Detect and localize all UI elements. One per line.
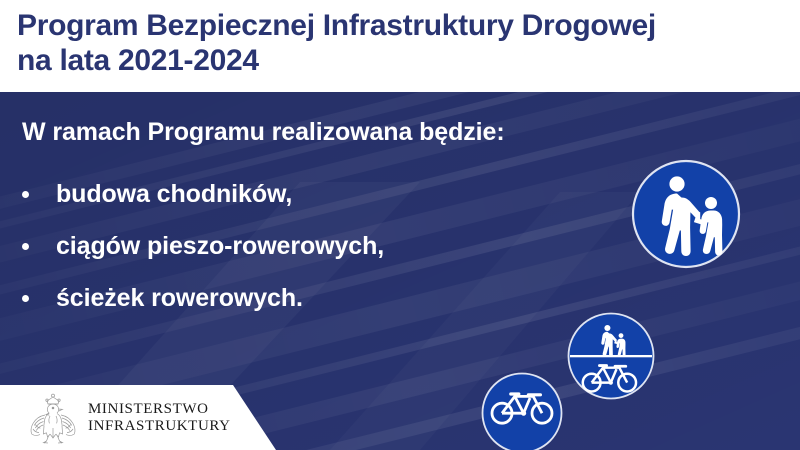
list-item-label: ciągów pieszo-rowerowych, [56,231,384,261]
infographic-slide: Program Bezpiecznej Infrastruktury Drogo… [0,0,800,450]
pedestrian-path-sign-icon [631,159,741,269]
list-item: ciągów pieszo-rowerowych, [18,231,488,283]
bullet-list: budowa chodników, ciągów pieszo-rowerowy… [18,179,488,335]
bullet-dot-icon [22,243,29,250]
page-title: Program Bezpiecznej Infrastruktury Drogo… [17,8,787,78]
bicycle-path-sign-icon [481,372,563,450]
list-item-label: ścieżek rowerowych. [56,283,303,313]
bullet-dot-icon [22,191,29,198]
ministry-name-label: MINISTERSTWO INFRASTRUKTURY [88,401,231,435]
list-item: ścieżek rowerowych. [18,283,488,335]
list-item: budowa chodników, [18,179,488,231]
header-band: Program Bezpiecznej Infrastruktury Drogo… [0,0,800,92]
list-item-label: budowa chodników, [56,179,292,209]
shared-pedestrian-bicycle-path-sign-icon [567,312,655,400]
polish-eagle-emblem-icon [22,392,84,446]
bullet-dot-icon [22,295,29,302]
lead-sentence: W ramach Programu realizowana będzie: [22,118,505,147]
